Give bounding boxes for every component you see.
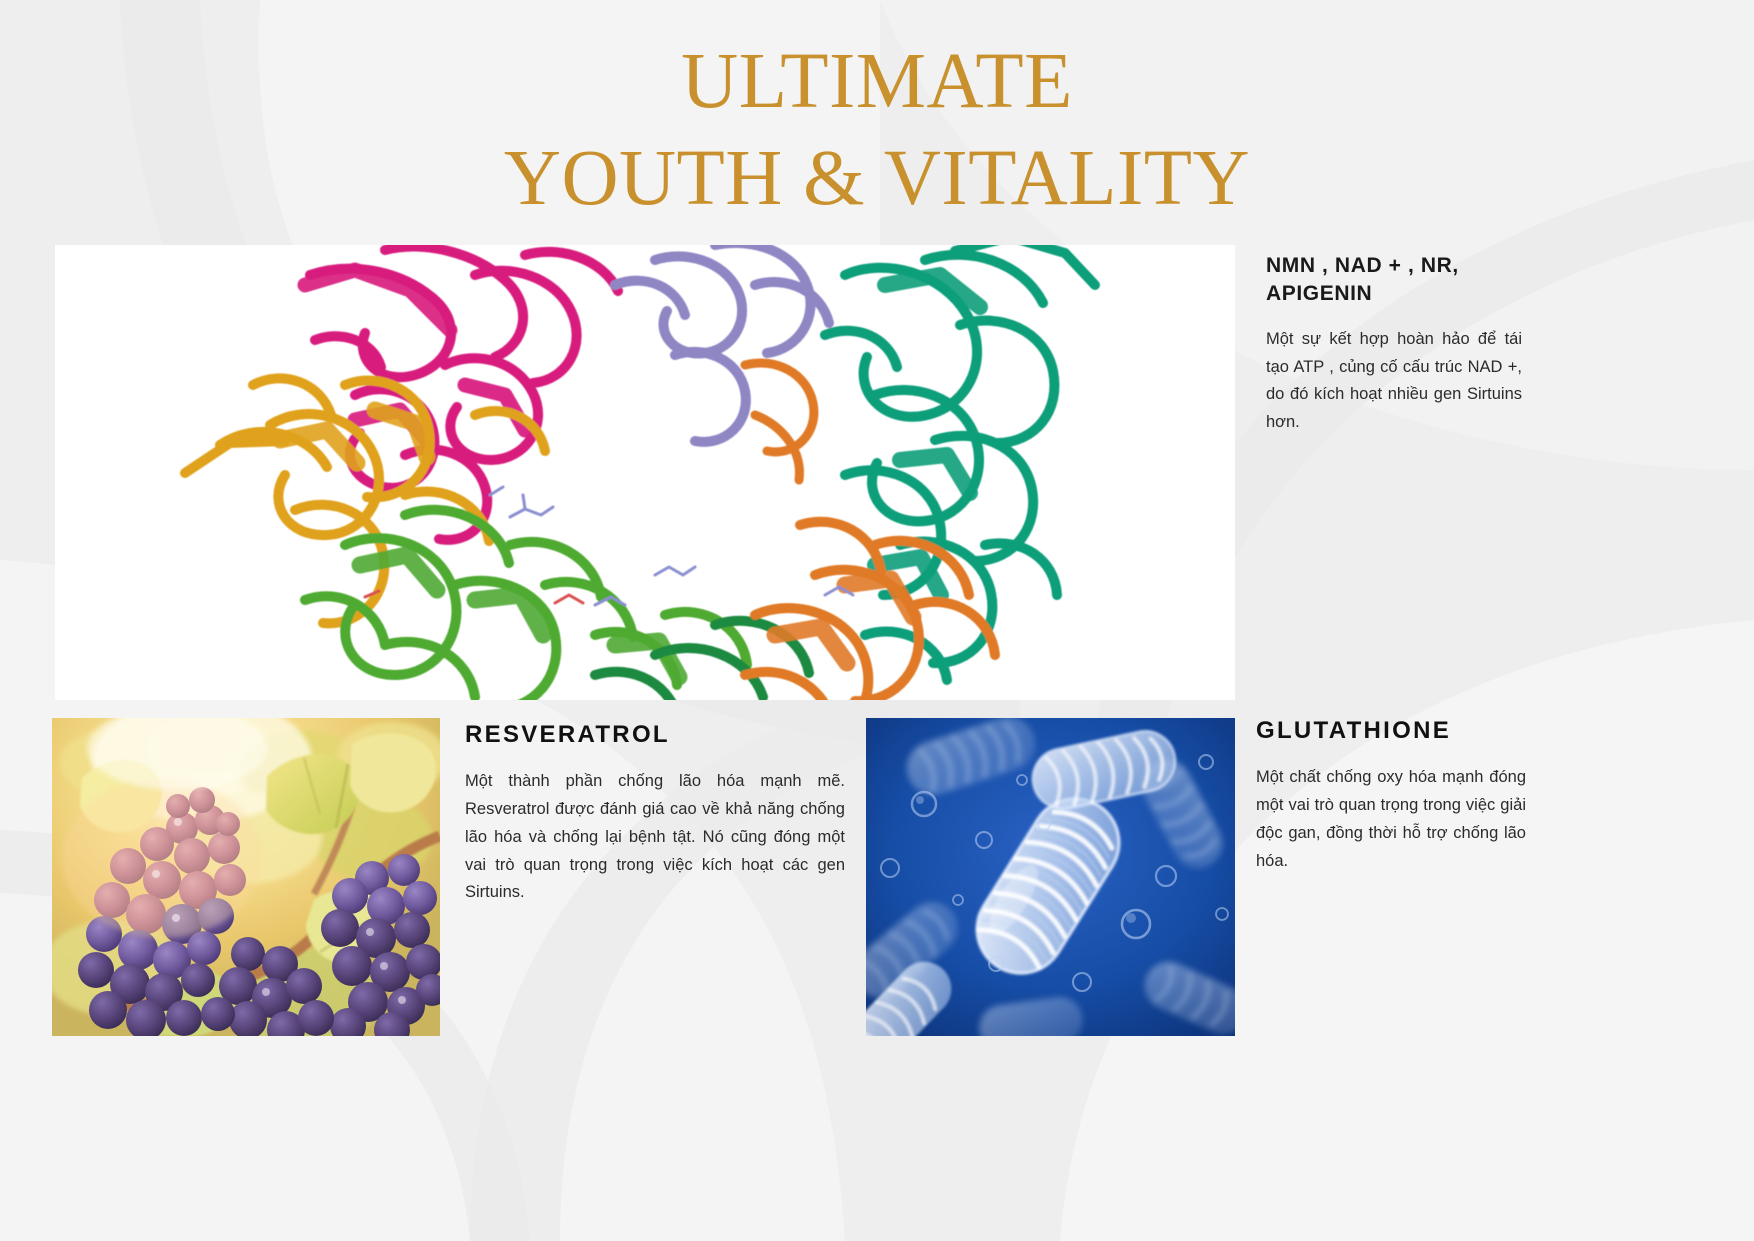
section-resveratrol: RESVERATROL Một thành phần chống lão hóa… [465,722,845,907]
mitochondria-image [866,718,1235,1036]
glutathione-heading: GLUTATHIONE [1256,718,1526,744]
vineyard-grapes-image [52,718,440,1036]
resveratrol-body-text: Một thành phần chống lão hóa mạnh mẽ. Re… [465,768,845,907]
section-nmn: NMN , NAD + , NR, APIGENIN Một sự kết hợ… [1266,252,1522,437]
protein-ribbon-structure-image [55,245,1235,700]
nmn-body-text: Một sự kết hợp hoàn hảo để tái tạo ATP ,… [1266,326,1522,437]
nmn-heading: NMN , NAD + , NR, APIGENIN [1266,252,1522,308]
resveratrol-heading: RESVERATROL [465,722,845,748]
title-line-primary: ULTIMATE [0,42,1754,121]
title-line-secondary: YOUTH & VITALITY [0,139,1754,218]
page-title: ULTIMATE YOUTH & VITALITY [0,42,1754,218]
glutathione-body-text: Một chất chống oxy hóa mạnh đóng một vai… [1256,764,1526,875]
section-glutathione: GLUTATHIONE Một chất chống oxy hóa mạnh … [1256,718,1526,875]
